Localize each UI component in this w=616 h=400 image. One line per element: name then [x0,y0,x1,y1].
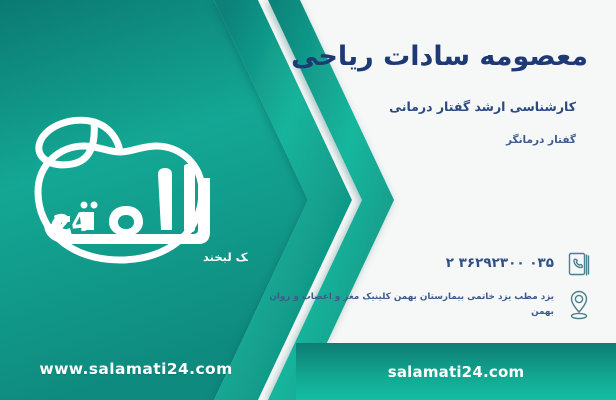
address-row[interactable]: یزد مطب یزد خاتمی بیمارستان بهمن کلینیک … [244,288,594,322]
person-name: معصومه سادات ریاحی [258,40,588,74]
brand-logo: 24 براحتی یک لبخند www.salamati24.com [8,112,248,272]
logo-website-url: www.salamati24.com [26,360,246,378]
footer-bar[interactable]: salamati24.com [296,343,616,400]
person-job-title: گفتار درمانگر [256,133,576,148]
badge-24: 24 [52,207,91,241]
person-degree: کارشناسی ارشد گفتار درمانی [256,98,576,116]
address-line-2: بهمن [531,307,554,317]
card-content: معصومه سادات ریاحی کارشناسی ارشد گفتار د… [242,0,602,400]
map-pin-icon [564,288,594,322]
phone-book-icon [564,248,594,282]
phone-number: ۲ ۳۶۲۹۲۳۰۰ ۰۳۵ [446,248,554,271]
svg-text:24: 24 [52,207,91,241]
apple-outline-logo: 24 براحتی یک لبخند [8,112,248,272]
address-text: یزد مطب یزد خاتمی بیمارستان بهمن کلینیک … [254,288,554,321]
address-line-1: یزد مطب یزد خاتمی بیمارستان بهمن کلینیک … [269,292,554,302]
phone-row[interactable]: ۲ ۳۶۲۹۲۳۰۰ ۰۳۵ [244,248,594,282]
business-card: 24 براحتی یک لبخند www.salamati24.com مع… [0,0,616,400]
footer-website: salamati24.com [388,363,525,381]
